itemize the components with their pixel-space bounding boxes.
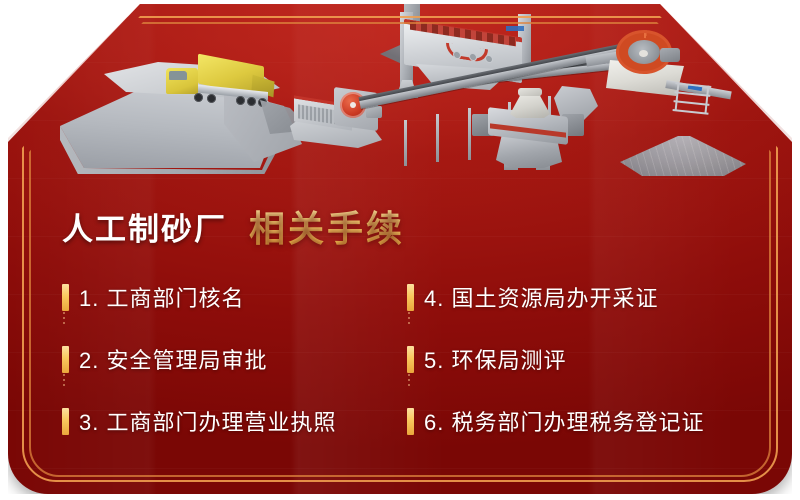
- washer-drive-hub: [660, 48, 680, 62]
- list-item: 1. 工商部门核名: [58, 266, 403, 328]
- washer-access-ladder: [673, 82, 712, 114]
- list-tick: [63, 312, 65, 326]
- list-item: 6. 税务部门办理税务登记证: [403, 390, 748, 452]
- sand-stockpile: [620, 136, 746, 176]
- list-bullet-bar: [62, 408, 69, 435]
- conveyor-leg-1: [404, 120, 407, 166]
- screen-port-1: [454, 52, 460, 59]
- list-item: 3. 工商部门办理营业执照: [58, 390, 403, 452]
- list-bullet-bar: [407, 408, 414, 435]
- list-item-label: 5. 环保局测评: [424, 343, 566, 375]
- list-item: 4. 国土资源局办开采证: [403, 266, 748, 328]
- promo-banner: 人工制砂厂 相关手续 1. 工商部门核名 4. 国土资源局办开采证 2. 安全管…: [0, 0, 800, 500]
- list-tick: [63, 374, 65, 388]
- list-item-label: 6. 税务部门办理税务登记证: [424, 405, 704, 437]
- list-bullet-bar: [62, 284, 69, 311]
- conveyor-leg-2: [436, 114, 439, 162]
- headline-row: 人工制砂厂 相关手续: [62, 200, 702, 252]
- screen-port-2: [470, 54, 476, 61]
- truck-wheels: [194, 93, 268, 102]
- list-item-label: 2. 安全管理局审批: [79, 343, 267, 375]
- procedure-list: 1. 工商部门核名 4. 国土资源局办开采证 2. 安全管理局审批 5. 环保局…: [58, 266, 748, 456]
- vsi-sand-maker-icon: [470, 88, 586, 170]
- illustration-stage: [8, 4, 792, 200]
- headline-primary: 人工制砂厂: [62, 204, 227, 249]
- list-bullet-bar: [407, 284, 414, 311]
- truck-windshield: [169, 71, 187, 80]
- list-bullet-bar: [62, 346, 69, 373]
- bucket-wheel-sand-washer-icon: [596, 26, 726, 110]
- vsi-cap: [518, 88, 542, 96]
- list-item-label: 3. 工商部门办理营业执照: [79, 405, 336, 437]
- list-item-label: 4. 国土资源局办开采证: [424, 281, 658, 313]
- headline-highlight: 相关手续: [249, 200, 405, 252]
- list-item-label: 1. 工商部门核名: [79, 281, 244, 313]
- list-item: 2. 安全管理局审批: [58, 328, 403, 390]
- list-tick: [408, 312, 410, 326]
- screen-motor-cover-upper: [506, 26, 524, 31]
- crusher-motor: [366, 106, 382, 118]
- list-bullet-bar: [407, 346, 414, 373]
- dump-truck-icon: [166, 60, 276, 106]
- list-tick: [408, 374, 410, 388]
- screen-port-3: [486, 56, 492, 63]
- list-item: 5. 环保局测评: [403, 328, 748, 390]
